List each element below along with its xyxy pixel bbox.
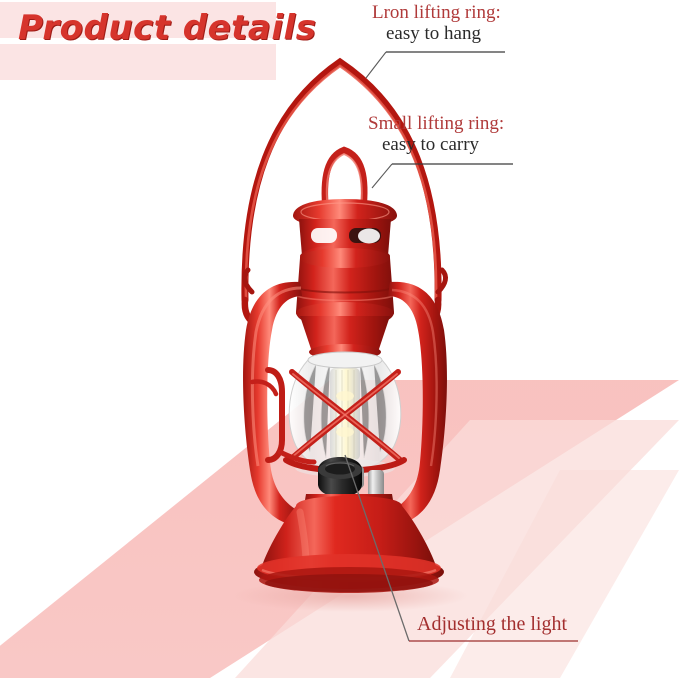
callout-leader-lines [0, 0, 679, 678]
callout-iron-lifting-ring-line2: easy to hang [372, 23, 501, 44]
callout-iron-lifting-ring: Lron lifting ring: easy to hang [372, 2, 501, 45]
callout-small-lifting-ring: Small lifting ring: easy to carry [368, 113, 504, 156]
callout-iron-lifting-ring-line1: Lron lifting ring: [372, 2, 501, 23]
product-details-image: Product details [0, 0, 679, 678]
callout-small-lifting-ring-line1: Small lifting ring: [368, 113, 504, 134]
callout-adjusting-the-light-line1: Adjusting the light [417, 613, 567, 635]
callout-small-lifting-ring-line2: easy to carry [368, 134, 504, 155]
callout-adjusting-the-light: Adjusting the light [417, 613, 567, 635]
